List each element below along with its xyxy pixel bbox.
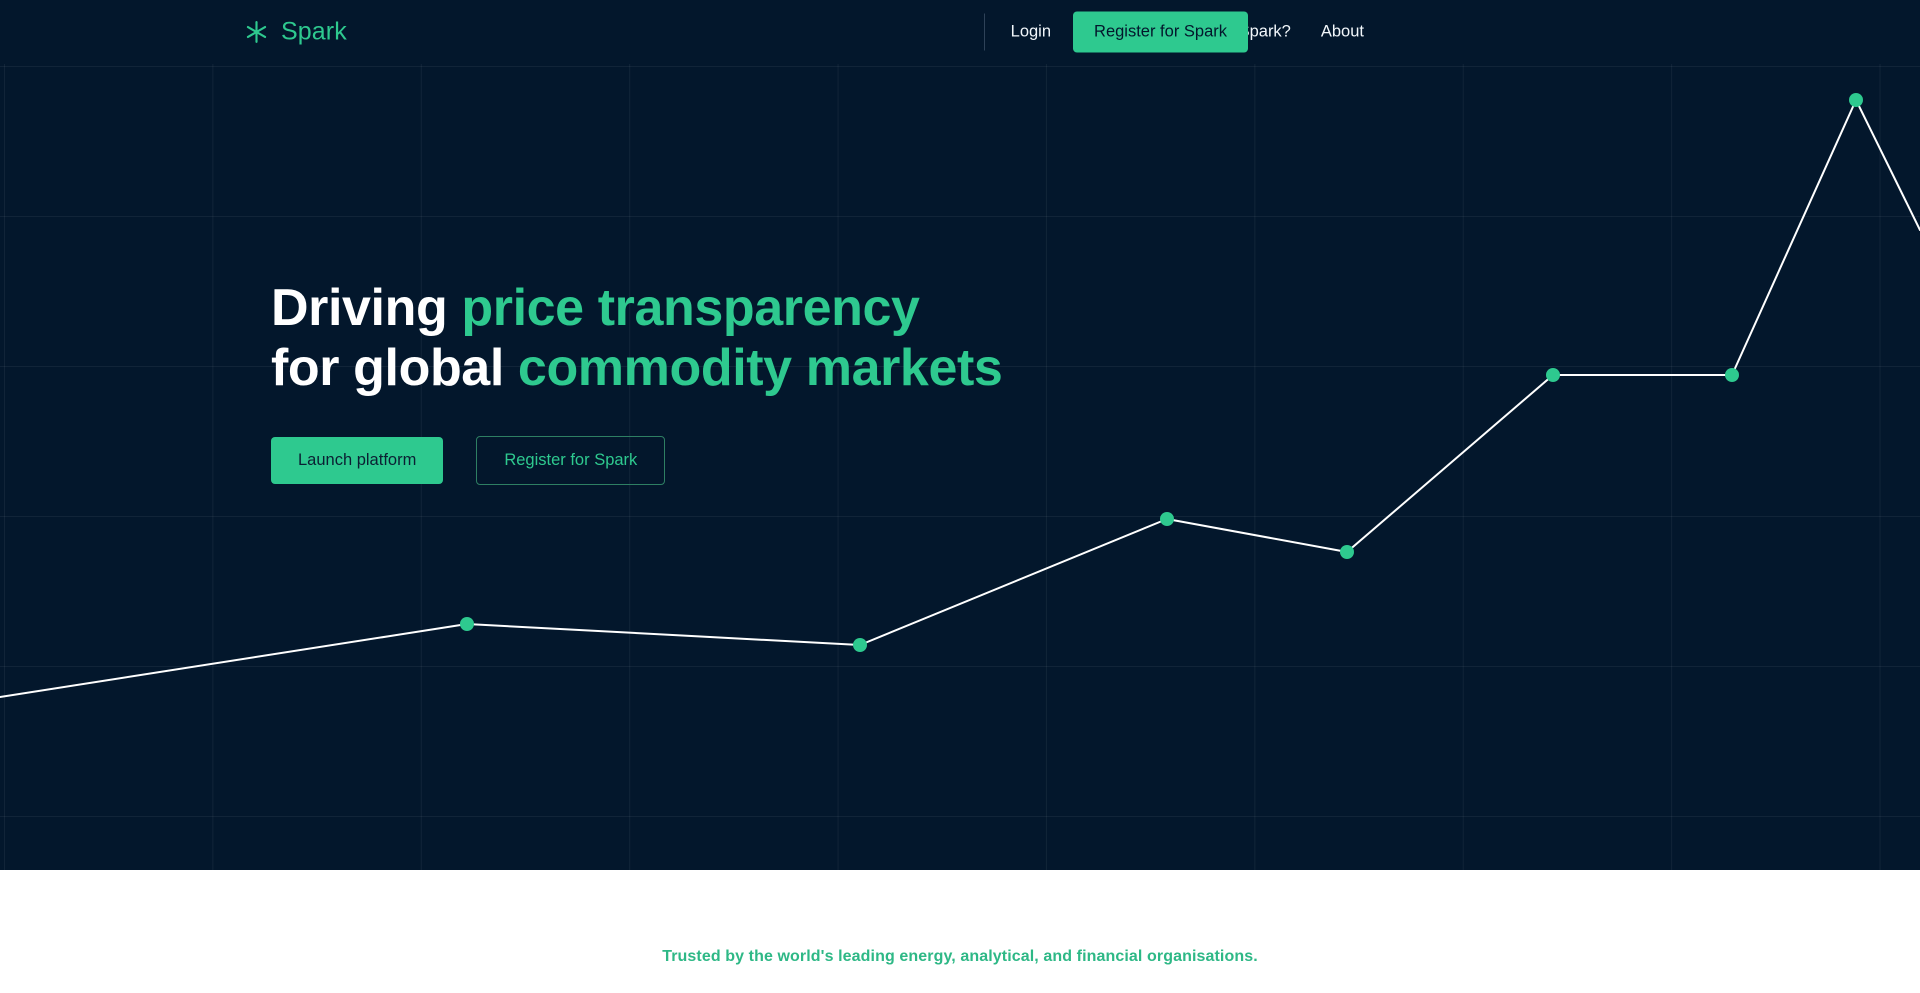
hero-title-line2: for global commodity markets [271, 339, 1002, 397]
chart-point-5 [1725, 368, 1739, 382]
trusted-by-band: Trusted by the world's leading energy, a… [0, 870, 1920, 993]
login-link[interactable]: Login [1011, 23, 1051, 42]
nav-item-about-label: About [1321, 23, 1364, 42]
chart-point-0 [460, 617, 474, 631]
site-header: Spark Markets Why Spark? About Login Reg… [0, 0, 1920, 64]
hero-title-line1: Driving price transparency [271, 279, 920, 337]
header-actions: Login Register for Spark [984, 12, 1248, 53]
chart-point-1 [853, 638, 867, 652]
chart-point-6 [1849, 93, 1863, 107]
brand-logo[interactable]: Spark [243, 19, 347, 46]
hero-section: Driving price transparency for global co… [0, 64, 1920, 870]
page-title: Driving price transparency for global co… [271, 278, 1002, 399]
hero-title-line2-highlight: commodity markets [518, 339, 1002, 397]
hero-cta-group: Launch platform Register for Spark [271, 436, 1002, 485]
header-divider [984, 14, 985, 51]
chart-point-4 [1546, 368, 1560, 382]
trusted-by-text: Trusted by the world's leading energy, a… [662, 948, 1258, 966]
hero-title-line2-plain: for global [271, 339, 518, 397]
nav-item-about[interactable]: About [1321, 23, 1364, 42]
launch-platform-button[interactable]: Launch platform [271, 437, 443, 484]
brand-name: Spark [281, 20, 347, 45]
hero-register-button[interactable]: Register for Spark [476, 436, 665, 485]
chart-point-3 [1340, 545, 1354, 559]
page-root: Spark Markets Why Spark? About Login Reg… [0, 0, 1920, 993]
hero-title-line1-highlight: price transparency [461, 279, 919, 337]
spark-asterisk-icon [243, 19, 270, 46]
hero-title-line1-plain: Driving [271, 279, 461, 337]
register-for-spark-button[interactable]: Register for Spark [1073, 12, 1248, 53]
chart-point-2 [1160, 512, 1174, 526]
hero-content: Driving price transparency for global co… [271, 278, 1002, 485]
